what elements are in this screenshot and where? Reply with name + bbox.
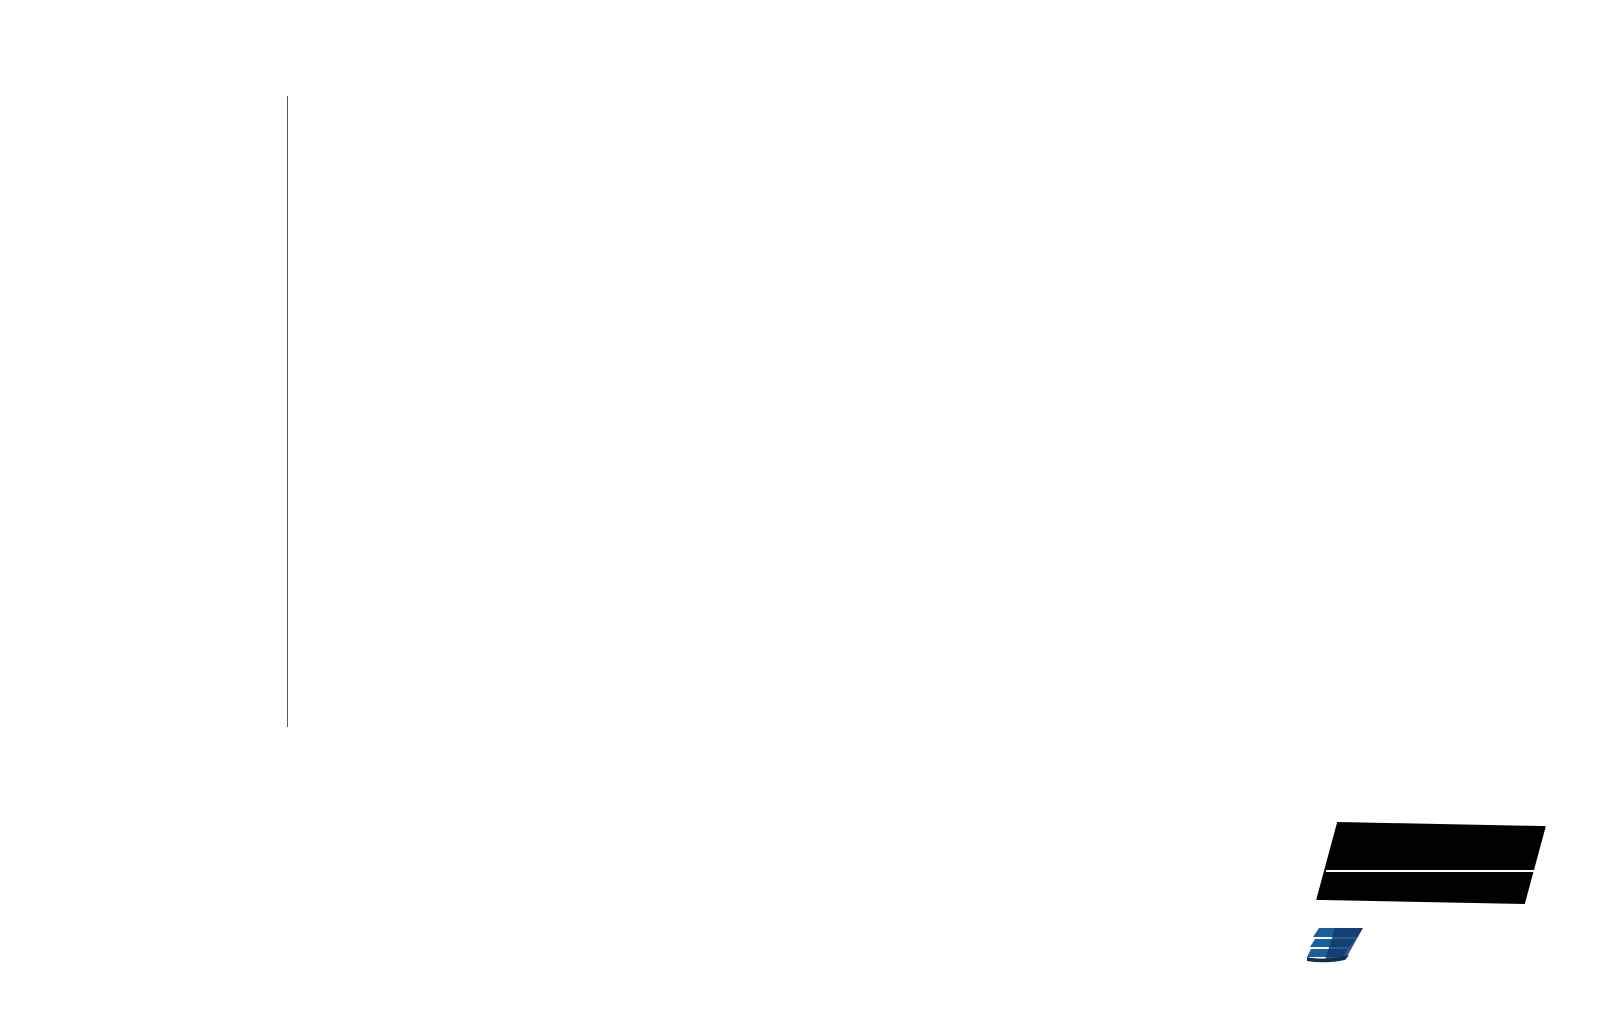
- do88-logo-slab: [1316, 822, 1547, 904]
- superflow-wave-icon: [1305, 924, 1367, 964]
- do88-logo: [1322, 822, 1540, 904]
- do88-logo-divider: [1326, 870, 1534, 872]
- series-layer: [288, 105, 1527, 727]
- chart-plot-area: [288, 105, 1527, 727]
- superflow-logo: [1305, 922, 1547, 968]
